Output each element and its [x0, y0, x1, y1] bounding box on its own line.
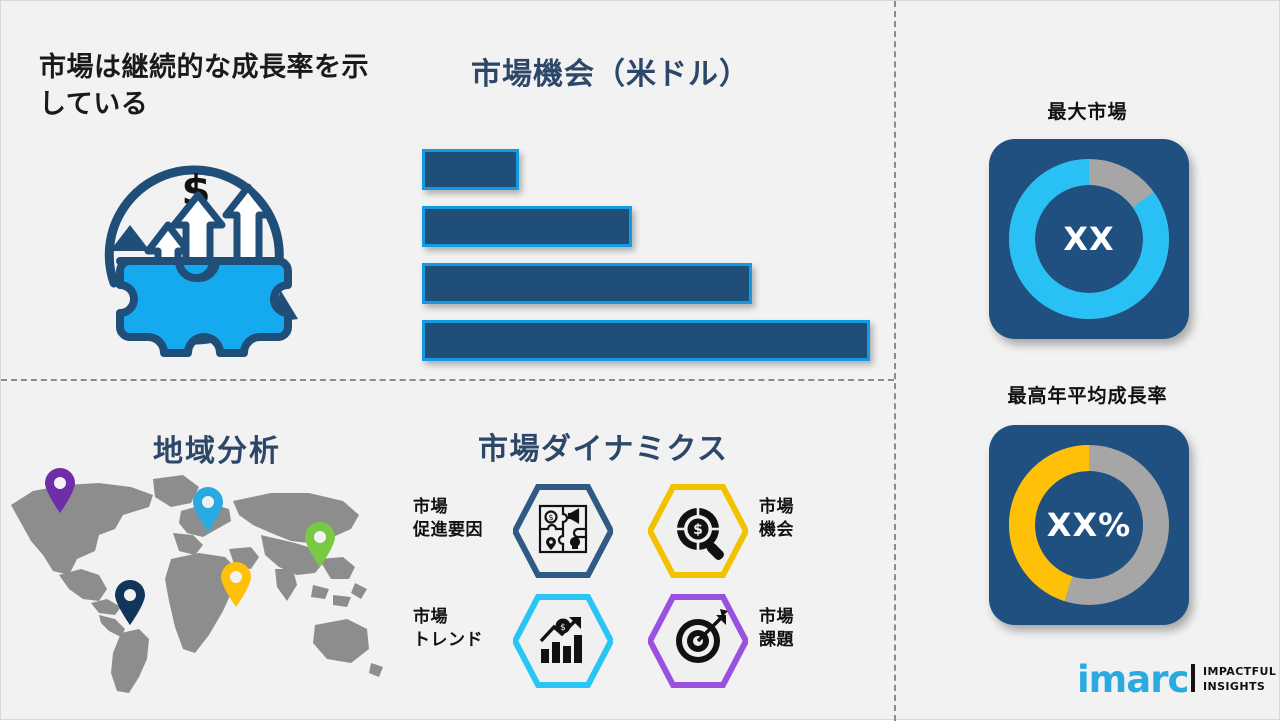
- logo-divider: [1191, 664, 1195, 692]
- growth-cycle-gear-icon: $: [76, 133, 316, 373]
- dynamics-label-opportunities-line2: 機会: [759, 519, 794, 542]
- dynamics-label-opportunities-line1: 市場: [759, 496, 794, 519]
- dynamics-label-drivers: 市場 促進要因: [413, 496, 483, 542]
- largest-market-title: 最大市場: [894, 97, 1280, 124]
- infographic-slide: 市場は継続的な成長率を示している $ 市場機会（米ドル） 地域分: [0, 0, 1280, 720]
- dynamics-label-trends: 市場 トレンド: [413, 606, 483, 652]
- bar-1: [422, 149, 519, 190]
- hex-market-drivers[interactable]: $: [513, 483, 613, 579]
- highest-cagr-donut-card: XX%: [989, 425, 1189, 625]
- imarc-logo: imarc IMPACTFUL INSIGHTS: [1077, 656, 1267, 702]
- hex-market-opportunities[interactable]: $: [648, 483, 748, 579]
- horizontal-divider: [1, 379, 894, 381]
- pin-europe: [191, 486, 225, 532]
- svg-text:$: $: [548, 513, 553, 522]
- dynamics-label-trends-line1: 市場: [413, 606, 483, 629]
- hex-market-trends[interactable]: $: [513, 593, 613, 689]
- svg-text:$: $: [560, 623, 566, 633]
- imarc-logo-tagline: IMPACTFUL INSIGHTS: [1203, 665, 1276, 695]
- dynamics-label-opportunities: 市場 機会: [759, 496, 794, 542]
- largest-market-value: XX: [989, 139, 1189, 339]
- imarc-logo-tagline-line2: INSIGHTS: [1203, 680, 1276, 695]
- dynamics-label-drivers-line1: 市場: [413, 496, 483, 519]
- opportunity-bar-chart: [422, 149, 892, 349]
- dynamics-label-drivers-line2: 促進要因: [413, 519, 483, 542]
- dynamics-panel-title: 市場ダイナミクス: [478, 424, 729, 468]
- imarc-logo-tagline-line1: IMPACTFUL: [1203, 665, 1276, 680]
- bar-3: [422, 263, 752, 304]
- dynamics-label-trends-line2: トレンド: [413, 629, 483, 652]
- highest-cagr-title: 最高年平均成長率: [894, 381, 1280, 408]
- largest-market-donut-card: XX: [989, 139, 1189, 339]
- bar-4: [422, 320, 870, 361]
- imarc-logo-wordmark: imarc: [1077, 658, 1188, 701]
- hex-market-challenges[interactable]: [648, 593, 748, 689]
- pin-north-america: [43, 467, 77, 513]
- bar-2: [422, 206, 632, 247]
- pin-middle-east-africa: [219, 561, 253, 607]
- world-map: [3, 463, 398, 701]
- dynamics-label-challenges-line2: 課題: [759, 629, 794, 652]
- pin-asia: [303, 521, 337, 567]
- highest-cagr-value: XX%: [989, 425, 1189, 625]
- dynamics-label-challenges: 市場 課題: [759, 606, 794, 652]
- pin-south-america: [113, 579, 147, 625]
- opportunity-panel-title: 市場機会（米ドル）: [471, 49, 750, 93]
- dynamics-label-challenges-line1: 市場: [759, 606, 794, 629]
- svg-text:$: $: [693, 522, 703, 538]
- growth-panel-title: 市場は継続的な成長率を示している: [39, 49, 389, 124]
